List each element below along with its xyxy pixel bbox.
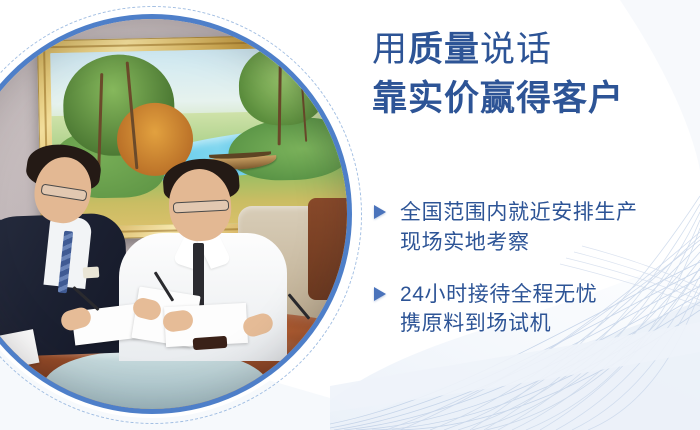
- triangle-right-icon: [372, 286, 388, 302]
- photo-circle: [0, 14, 352, 414]
- headline-suffix: 说话: [480, 30, 552, 69]
- feature-line-secondary: 携原料到场试机: [400, 309, 700, 339]
- triangle-right-icon: [372, 204, 388, 220]
- banner-content: 用质量说话 靠实价赢得客户 全国范围内就近安排生产 现场实地考察 24小时接待全…: [368, 0, 700, 430]
- feature-list: 全国范围内就近安排生产 现场实地考察 24小时接待全程无忧 携原料到场试机: [372, 198, 700, 361]
- headline-prefix: 用: [372, 30, 408, 69]
- feature-item: 全国范围内就近安排生产 现场实地考察: [372, 198, 700, 258]
- meeting-photo: [0, 19, 347, 409]
- headline-block: 用质量说话 靠实价赢得客户: [372, 32, 700, 116]
- feature-line-primary: 全国范围内就近安排生产: [400, 198, 638, 228]
- promo-banner: 用质量说话 靠实价赢得客户 全国范围内就近安排生产 现场实地考察 24小时接待全…: [0, 0, 700, 430]
- feature-line-primary: 24小时接待全程无忧: [400, 280, 597, 310]
- headline-line-2: 靠实价赢得客户: [372, 81, 700, 116]
- headline-line-1: 用质量说话: [372, 32, 700, 67]
- feature-line-secondary: 现场实地考察: [400, 228, 700, 258]
- feature-item: 24小时接待全程无忧 携原料到场试机: [372, 280, 700, 340]
- headline-emphasis: 质量: [408, 30, 480, 69]
